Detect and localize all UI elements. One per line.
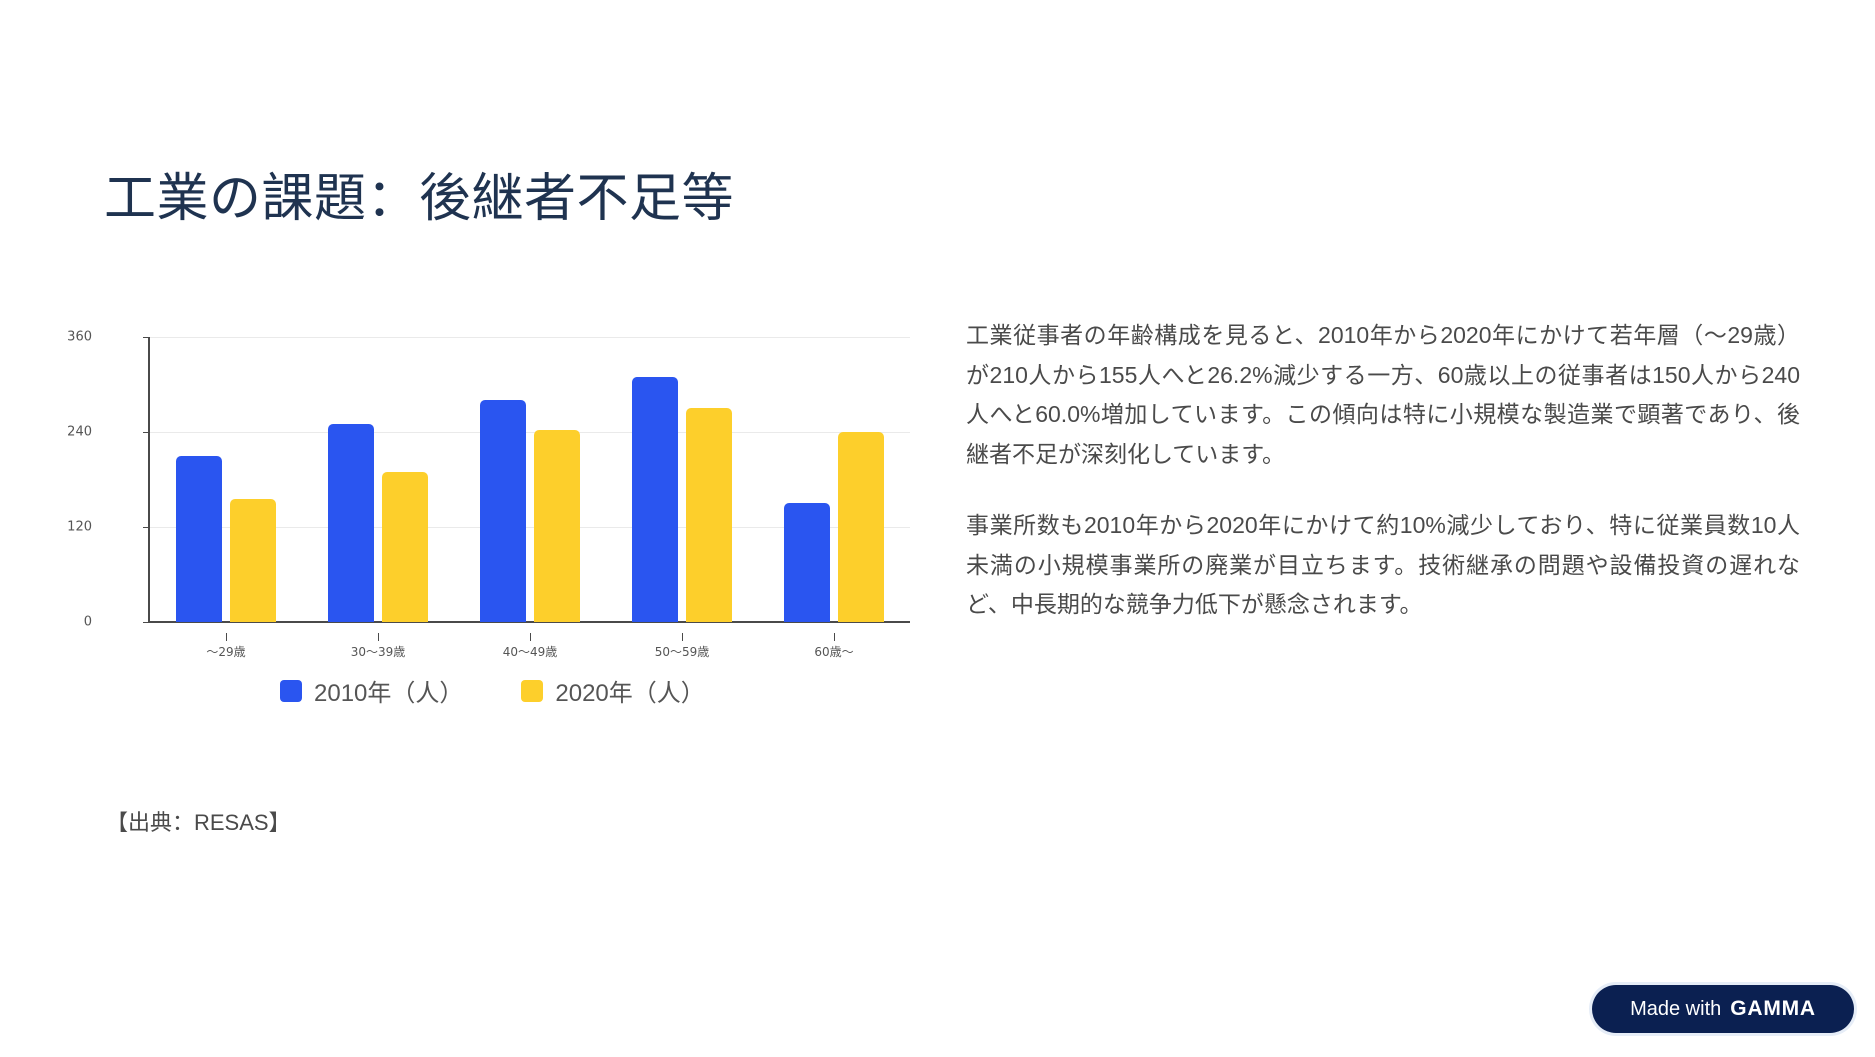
y-axis-tickmark: [143, 622, 150, 623]
x-axis-tick-label: 40〜49歳: [503, 643, 558, 660]
legend-color-swatch: [280, 680, 302, 702]
legend-item[interactable]: 2010年（人）: [280, 673, 463, 708]
bar-group: [606, 337, 758, 622]
badge-made-with-label: Made with: [1630, 998, 1721, 1021]
bar-2010[interactable]: [632, 377, 678, 622]
bars-and-gridlines: 〜29歳30〜39歳40〜49歳50〜59歳60歳〜: [150, 337, 910, 622]
made-with-gamma-badge[interactable]: Made with GAMMA: [1592, 985, 1854, 1033]
bar-2020[interactable]: [534, 430, 580, 622]
bar-2020[interactable]: [838, 432, 884, 622]
y-axis-tickmark: [143, 527, 150, 528]
slide-canvas: 工業の課題：後継者不足等 〜29歳30〜39歳40〜49歳50〜59歳60歳〜 …: [0, 0, 1875, 1057]
chart-legend: 2010年（人）2020年（人）: [280, 673, 705, 708]
bar-2010[interactable]: [176, 456, 222, 622]
legend-color-swatch: [521, 680, 543, 702]
x-axis-tick-label: 30〜39歳: [351, 643, 406, 660]
y-axis-tick-label: 240: [67, 425, 100, 440]
body-paragraph: 事業所数も2010年から2020年にかけて約10%減少しており、特に従業員数10…: [966, 506, 1800, 625]
page-title: 工業の課題：後継者不足等: [104, 168, 734, 230]
legend-label: 2020年（人）: [555, 673, 704, 708]
bar-group: [302, 337, 454, 622]
y-axis-tickmark: [143, 337, 150, 338]
x-axis-tick-label: 50〜59歳: [655, 643, 710, 660]
x-axis-tickmark: [834, 633, 835, 641]
source-note: 【出典：RESAS】: [106, 805, 291, 837]
x-axis-tickmark: [226, 633, 227, 641]
legend-item[interactable]: 2020年（人）: [521, 673, 704, 708]
x-axis-tick-label: 〜29歳: [206, 643, 245, 660]
bar-2010[interactable]: [328, 424, 374, 622]
legend-label: 2010年（人）: [314, 673, 463, 708]
y-axis-tickmark: [143, 432, 150, 433]
y-axis-tick-label: 120: [67, 520, 100, 535]
bar-2010[interactable]: [784, 503, 830, 622]
x-axis-tickmark: [378, 633, 379, 641]
bar-group: [150, 337, 302, 622]
bar-2020[interactable]: [382, 472, 428, 622]
y-axis-tick-label: 0: [84, 615, 100, 630]
y-axis-tick-label: 360: [67, 330, 100, 345]
gamma-logo-wordmark: GAMMA: [1730, 997, 1816, 1021]
body-paragraph: 工業従事者の年齢構成を見ると、2010年から2020年にかけて若年層（〜29歳）…: [966, 316, 1800, 474]
bar-2020[interactable]: [230, 499, 276, 622]
bar-group: [454, 337, 606, 622]
x-axis-tick-label: 60歳〜: [814, 643, 853, 660]
chart-container: 〜29歳30〜39歳40〜49歳50〜59歳60歳〜 0120240360 20…: [100, 325, 910, 725]
x-axis-tickmark: [530, 633, 531, 641]
bar-2010[interactable]: [480, 400, 526, 622]
body-text-column: 工業従事者の年齢構成を見ると、2010年から2020年にかけて若年層（〜29歳）…: [966, 316, 1800, 625]
bar-2020[interactable]: [686, 408, 732, 622]
chart-plot-area: 〜29歳30〜39歳40〜49歳50〜59歳60歳〜 0120240360: [100, 325, 910, 635]
bar-group: [758, 337, 910, 622]
x-axis-tickmark: [682, 633, 683, 641]
